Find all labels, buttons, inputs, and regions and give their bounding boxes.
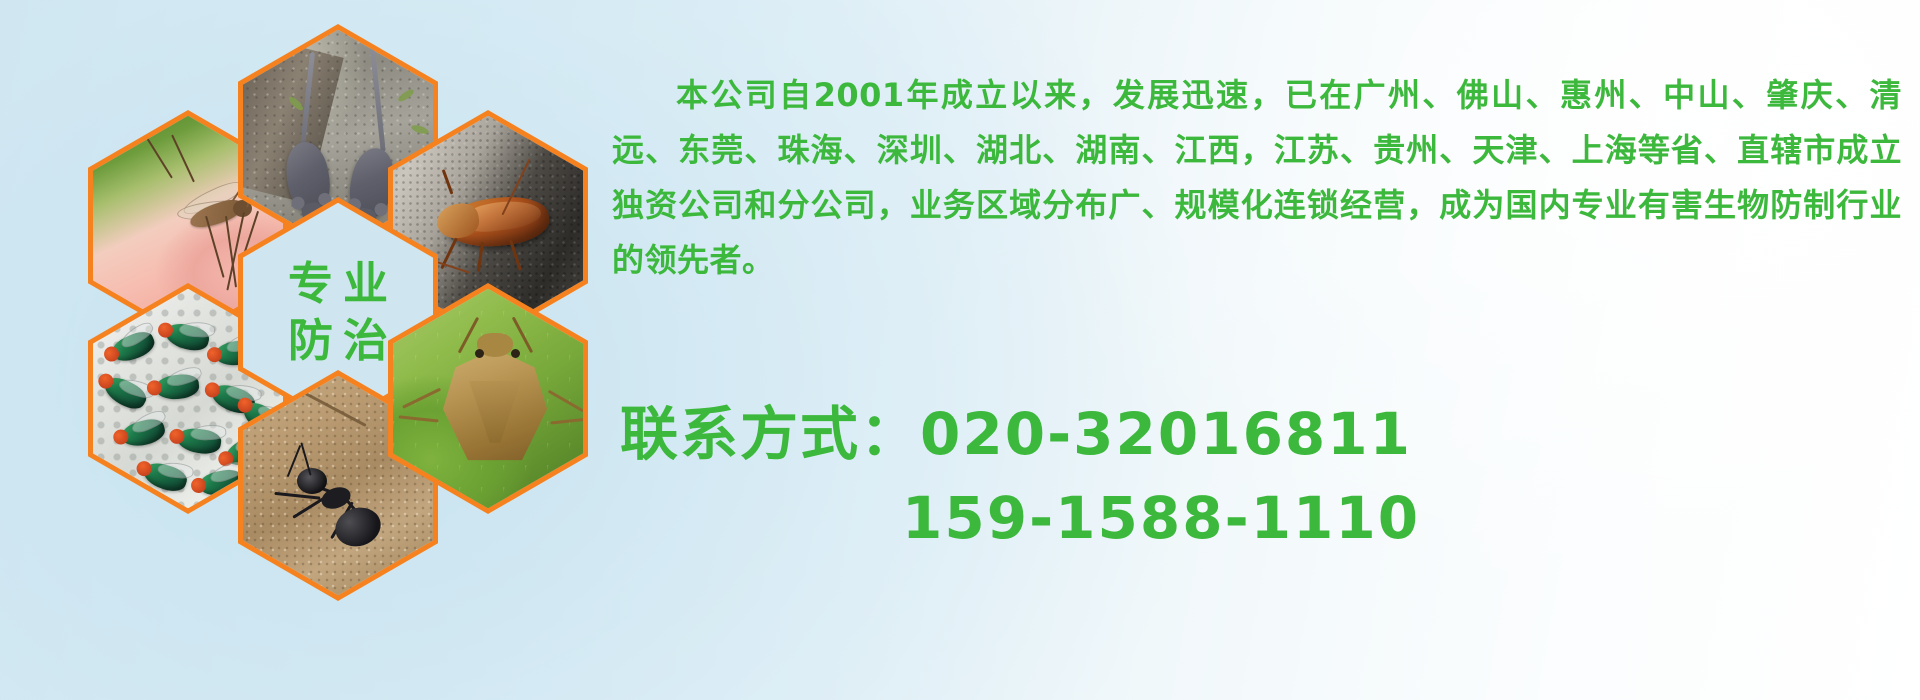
mosquito-leg-icon: [171, 134, 195, 182]
company-intro-paragraph: 本公司自2001年成立以来，发展迅速，已在广州、佛山、惠州、中山、肇庆、清远、东…: [612, 68, 1902, 288]
ant-head-icon: [297, 468, 327, 494]
hex-inner-stinkbug: [393, 289, 583, 508]
mosquito-leg-icon: [147, 138, 173, 178]
honeycomb-gallery: 专业 防治: [88, 0, 588, 570]
stinkbug-eye-icon: [475, 349, 484, 358]
slogan-line-1: 专业: [278, 260, 398, 307]
contact-block: 联系方式：020-32016811 159-1588-1110: [612, 392, 1912, 560]
pest-control-banner: 专业 防治: [0, 0, 1920, 700]
slogan-line-2: 防治: [278, 317, 398, 364]
company-intro-block: 本公司自2001年成立以来，发展迅速，已在广州、佛山、惠州、中山、肇庆、清远、东…: [612, 36, 1902, 320]
stinkbug-photo-icon: [393, 289, 583, 508]
contact-landline-line[interactable]: 联系方式：020-32016811: [612, 392, 1912, 476]
contact-mobile-line[interactable]: 159-1588-1110: [612, 476, 1912, 560]
stinkbug-eye-icon: [511, 349, 520, 358]
